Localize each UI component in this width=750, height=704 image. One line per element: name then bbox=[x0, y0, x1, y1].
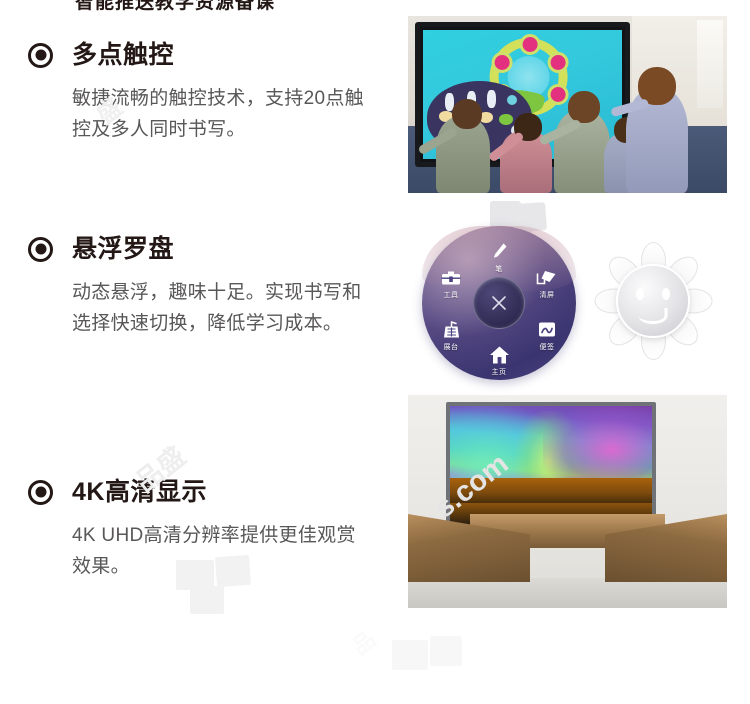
compass-close-button[interactable] bbox=[473, 277, 525, 329]
feature-heading: 悬浮罗盘 bbox=[28, 232, 388, 266]
graphic-dot bbox=[491, 52, 512, 73]
mascot-eye-right bbox=[662, 288, 670, 300]
palette-item bbox=[499, 114, 513, 125]
radio-filled-icon bbox=[28, 480, 53, 505]
stage-icon bbox=[429, 320, 473, 342]
feature-heading: 多点触控 bbox=[28, 38, 388, 72]
aurora-magenta bbox=[543, 406, 652, 485]
compass-item-label: 工具 bbox=[429, 291, 473, 301]
feature-description: 4K UHD高清分辨率提供更佳观赏效果。 bbox=[72, 520, 372, 582]
feature-title: 多点触控 bbox=[72, 43, 174, 68]
note-icon bbox=[525, 320, 569, 342]
compass-item-visualizer[interactable]: 展台 bbox=[429, 320, 473, 353]
display-screen bbox=[450, 406, 652, 526]
compass-item-label: 清屏 bbox=[525, 291, 569, 301]
graphic-dot bbox=[519, 34, 540, 55]
compass-item-label: 展台 bbox=[429, 343, 473, 353]
compass-item-clear-screen[interactable]: 清屏 bbox=[525, 268, 569, 301]
feature-item-multi-touch: 多点触控 敏捷流畅的触控技术，支持20点触控及多人同时书写。 bbox=[28, 38, 388, 145]
feature-list: 智能推送教学资源备课 多点触控 敏捷流畅的触控技术，支持20点触控及多人同时书写… bbox=[0, 0, 400, 704]
feature-title: 悬浮罗盘 bbox=[72, 237, 174, 262]
pen-icon bbox=[477, 242, 521, 264]
eraser-icon bbox=[525, 268, 569, 290]
mascot-face bbox=[616, 264, 690, 338]
child-figure bbox=[554, 111, 610, 193]
meeting-room-floor bbox=[408, 578, 727, 608]
palette-item bbox=[507, 95, 517, 105]
child-head bbox=[452, 99, 482, 129]
feature-item-4k-display: 4K高清显示 4K UHD高清分辨率提供更佳观赏效果。 bbox=[28, 475, 388, 582]
graphic-dot bbox=[547, 52, 568, 73]
flower-smiley-mascot[interactable] bbox=[594, 242, 712, 360]
feature-description: 敏捷流畅的触控技术，支持20点触控及多人同时书写。 bbox=[72, 83, 372, 145]
cut-off-heading: 智能推送教学资源备课 bbox=[75, 0, 275, 14]
close-x-icon bbox=[489, 293, 509, 313]
media-column: 笔 清屏 便签 bbox=[408, 0, 728, 704]
mascot-eye-left bbox=[636, 288, 644, 300]
compass-item-label: 主页 bbox=[477, 368, 521, 378]
radio-filled-icon bbox=[28, 43, 53, 68]
radio-filled-icon bbox=[28, 237, 53, 262]
feature-title: 4K高清显示 bbox=[72, 480, 207, 505]
compass-item-sticky-note[interactable]: 便签 bbox=[525, 320, 569, 353]
toolbox-icon bbox=[429, 268, 473, 290]
feature-item-floating-compass: 悬浮罗盘 动态悬浮，趣味十足。实现书写和选择快速切换，降低学习成本。 bbox=[28, 232, 388, 339]
compass-item-pen[interactable]: 笔 bbox=[477, 242, 521, 275]
conference-table bbox=[408, 512, 727, 582]
compass-item-tools[interactable]: 工具 bbox=[429, 268, 473, 301]
large-format-display bbox=[446, 402, 656, 530]
aurora-landscape bbox=[450, 478, 652, 503]
floating-compass-menu[interactable]: 笔 清屏 便签 bbox=[422, 226, 576, 380]
compass-item-home[interactable]: 主页 bbox=[477, 345, 521, 378]
floating-compass-zone: 笔 清屏 便签 bbox=[408, 198, 728, 388]
compass-item-label: 笔 bbox=[477, 265, 521, 275]
home-icon bbox=[477, 345, 521, 367]
mascot-mouth bbox=[639, 308, 668, 324]
child-head bbox=[568, 91, 600, 123]
conference-room-4k-display bbox=[408, 395, 727, 608]
compass-item-label: 便签 bbox=[525, 343, 569, 353]
feature-heading: 4K高清显示 bbox=[28, 475, 388, 509]
window bbox=[697, 20, 723, 108]
palette-item bbox=[487, 90, 496, 108]
feature-description: 动态悬浮，趣味十足。实现书写和选择快速切换，降低学习成本。 bbox=[72, 277, 372, 339]
children-touching-interactive-whiteboard bbox=[408, 16, 727, 193]
graphic-dot bbox=[547, 84, 568, 105]
